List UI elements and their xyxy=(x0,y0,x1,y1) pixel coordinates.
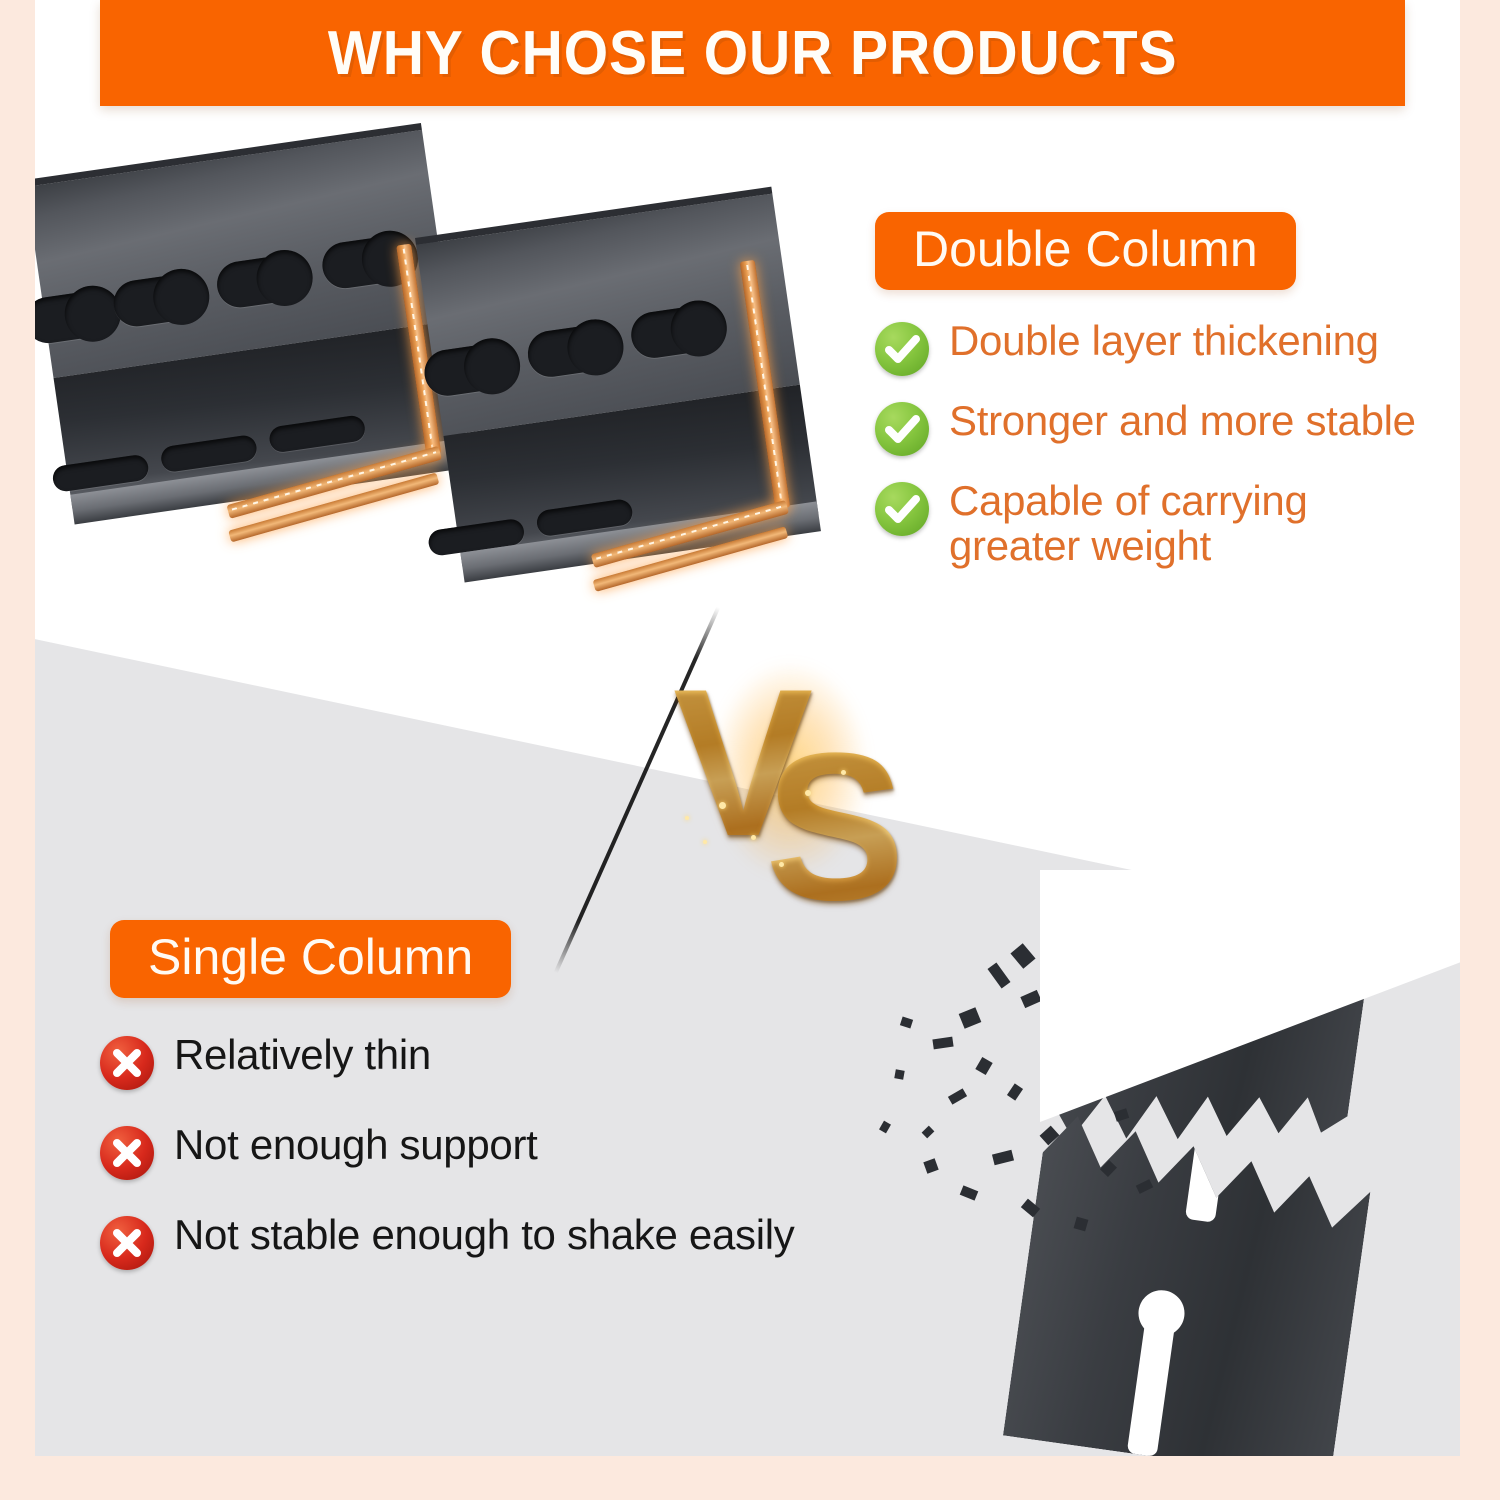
spark xyxy=(685,816,689,820)
list-item-label: Not stable enough to shake easily xyxy=(174,1212,795,1257)
pro-section: Double Column Double layer thickening xyxy=(875,212,1460,591)
oval-slot xyxy=(268,414,367,453)
list-item: Not stable enough to shake easily xyxy=(100,1212,930,1270)
list-item-label: Relatively thin xyxy=(174,1032,431,1077)
page-title: WHY CHOSE OUR PRODUCTS xyxy=(328,18,1178,89)
list-item: Capable of carrying greater weight xyxy=(875,478,1460,569)
check-circle-icon xyxy=(875,322,929,376)
list-item-label: Not enough support xyxy=(174,1122,538,1167)
cross-circle-icon xyxy=(100,1036,154,1090)
keyhole-slot xyxy=(319,233,411,291)
keyhole-slot xyxy=(214,253,306,311)
list-item-label: Capable of carrying greater weight xyxy=(949,478,1379,569)
check-circle-icon xyxy=(875,402,929,456)
check-circle-icon xyxy=(875,482,929,536)
list-item-label: Stronger and more stable xyxy=(949,398,1416,443)
header-banner: WHY CHOSE OUR PRODUCTS xyxy=(100,0,1405,106)
list-item: Stronger and more stable xyxy=(875,398,1460,456)
spark xyxy=(751,835,756,840)
single-column-badge: Single Column xyxy=(110,920,511,998)
spark xyxy=(805,790,811,796)
versus-letter-s: S xyxy=(765,722,905,932)
list-item-label: Double layer thickening xyxy=(949,318,1379,363)
spark xyxy=(779,862,784,867)
spark xyxy=(841,770,846,775)
double-column-badge: Double Column xyxy=(875,212,1296,290)
steel-beam-right xyxy=(415,187,828,634)
con-section: Single Column Relatively thin xyxy=(110,920,930,1302)
keyhole-slot xyxy=(35,288,114,346)
infographic-root: Double Column Double layer thickening xyxy=(0,0,1500,1500)
broken-beam-lower-piece xyxy=(1003,1099,1377,1456)
con-bullet-list: Relatively thin Not enough support xyxy=(100,1032,930,1270)
double-column-photo xyxy=(35,140,855,620)
content-canvas: Double Column Double layer thickening xyxy=(35,0,1460,1456)
oval-slot xyxy=(160,434,259,473)
keyhole-slot xyxy=(1127,1304,1178,1456)
list-item: Relatively thin xyxy=(100,1032,930,1090)
keyhole-slot xyxy=(525,322,617,380)
versus-graphic: V S xyxy=(655,630,955,930)
spark xyxy=(719,802,726,809)
steel-beam-left xyxy=(35,123,482,606)
cross-circle-icon xyxy=(100,1126,154,1180)
list-item: Double layer thickening xyxy=(875,318,1460,376)
keyhole-slot xyxy=(422,341,514,399)
keyhole-slot xyxy=(111,272,203,330)
list-item: Not enough support xyxy=(100,1122,930,1180)
pro-bullet-list: Double layer thickening Stronger and mor… xyxy=(875,318,1460,569)
keyhole-slot xyxy=(628,303,720,361)
cross-circle-icon xyxy=(100,1216,154,1270)
broken-beam-photo xyxy=(865,870,1460,1456)
spark xyxy=(703,840,707,844)
